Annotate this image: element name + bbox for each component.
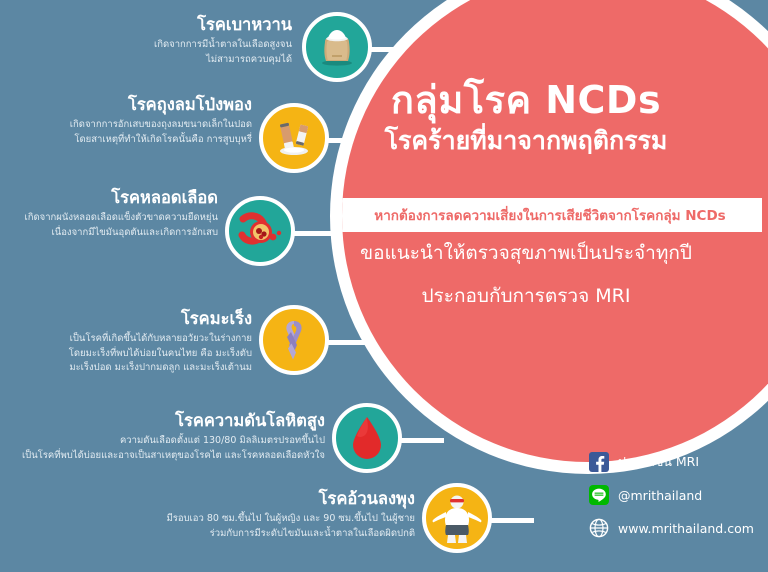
hero-circle: กลุ่มโรค NCDs โรคร้ายที่มาจากพฤติกรรม ขอ… xyxy=(342,0,768,462)
globe-icon xyxy=(589,518,609,538)
awareness-ribbon-icon xyxy=(274,317,314,363)
hero-band-label: หากต้องการลดความเสี่ยงในการเสียชีวิตจากโ… xyxy=(374,204,725,226)
contact-website[interactable]: www.mrithailand.com xyxy=(589,518,754,538)
disease-desc-emphysema-line2: โดยสาเหตุที่ทำให้เกิดโรคนั้นคือ การสูบบุ… xyxy=(0,133,252,148)
disease-icon-circle-emphysema xyxy=(259,103,329,173)
blood-vessel-icon xyxy=(235,209,285,253)
disease-desc-cancer-line1: เป็นโรคที่เกิดขึ้นได้กับหลายอวัยวะในร่าง… xyxy=(0,332,252,347)
hero-band: หากต้องการลดความเสี่ยงในการเสียชีวิตจากโ… xyxy=(342,198,762,232)
disease-desc-hypertension-line1: ความดันเลือดตั้งแต่ 130/80 มิลลิเมตรปรอท… xyxy=(0,434,325,449)
disease-desc-emphysema-line1: เกิดจากการอักเสบของถุงลมขนาดเล็กในปอด xyxy=(0,118,252,133)
disease-desc-hypertension-line2: เป็นโรคที่พบได้บ่อยและอาจเป็นสาเหตุของโร… xyxy=(0,449,325,464)
disease-icon-circle-cancer xyxy=(259,305,329,375)
blood-drop-icon xyxy=(350,415,384,461)
contact-list: ประชาชื่น MRI @mrithailand xyxy=(589,452,754,538)
contact-website-label: www.mrithailand.com xyxy=(618,521,754,536)
contact-line[interactable]: @mrithailand xyxy=(589,485,754,505)
disease-icon-circle-diabetes xyxy=(302,12,372,82)
disease-icon-circle-hypertension xyxy=(332,403,402,473)
disease-desc-cancer-line3: มะเร็งปอด มะเร็งปากมดลูก และมะเร็งเต้านม xyxy=(0,361,252,376)
infographic-poster: กลุ่มโรค NCDs โรคร้ายที่มาจากพฤติกรรม ขอ… xyxy=(0,0,768,572)
disease-title-emphysema: โรคถุงลมโป่งพอง xyxy=(0,96,252,115)
disease-desc-diabetes-line2: ไม่สามารถควบคุมได้ xyxy=(0,53,292,68)
disease-desc-vascular-line1: เกิดจากผนังหลอดเลือดแข็งตัวขาดความยืดหยุ… xyxy=(0,211,218,226)
line-icon xyxy=(589,485,609,505)
contact-facebook[interactable]: ประชาชื่น MRI xyxy=(589,452,754,472)
disease-title-cancer: โรคมะเร็ง xyxy=(0,310,252,329)
disease-desc-vascular-line2: เนื่องจากมีไขมันอุดตันและเกิดการอักเสบ xyxy=(0,226,218,241)
disease-desc-diabetes-line1: เกิดจากการมีน้ำตาลในเลือดสูงจน xyxy=(0,38,292,53)
contact-line-label: @mrithailand xyxy=(618,488,702,503)
disease-desc-obesity-line1: มีรอบเอว 80 ซม.ขึ้นไป ในผู้หญิง และ 90 ซ… xyxy=(0,512,415,527)
contact-facebook-label: ประชาชื่น MRI xyxy=(618,452,699,472)
hero-subtitle: โรคร้ายที่มาจากพฤติกรรม xyxy=(385,127,668,156)
disease-title-diabetes: โรคเบาหวาน xyxy=(0,16,292,35)
obese-person-icon xyxy=(430,493,484,543)
disease-title-vascular: โรคหลอดเลือด xyxy=(0,189,218,208)
disease-desc-obesity-line2: ร่วมกับการมีระดับไขมันและน้ำตาลในเลือดผิ… xyxy=(0,527,415,542)
connector-obesity xyxy=(490,518,534,523)
cigarettes-icon xyxy=(271,115,317,161)
hero-recommend-line-1: ขอแนะนำให้ตรวจสุขภาพเป็นประจำทุกปี xyxy=(360,242,692,265)
disease-icon-circle-obesity xyxy=(422,483,492,553)
disease-icon-circle-vascular xyxy=(225,196,295,266)
disease-title-obesity: โรคอ้วนลงพุง xyxy=(0,490,415,509)
disease-title-hypertension: โรคความดันโลหิตสูง xyxy=(0,412,325,431)
facebook-icon xyxy=(589,452,609,472)
hero-title: กลุ่มโรค NCDs xyxy=(391,80,661,121)
disease-desc-cancer-line2: โดยมะเร็งที่พบได้บ่อยในคนไทย คือ มะเร็งต… xyxy=(0,347,252,362)
sugar-sack-icon xyxy=(315,25,359,69)
hero-recommend-line-2: ประกอบกับการตรวจ MRI xyxy=(422,285,631,308)
